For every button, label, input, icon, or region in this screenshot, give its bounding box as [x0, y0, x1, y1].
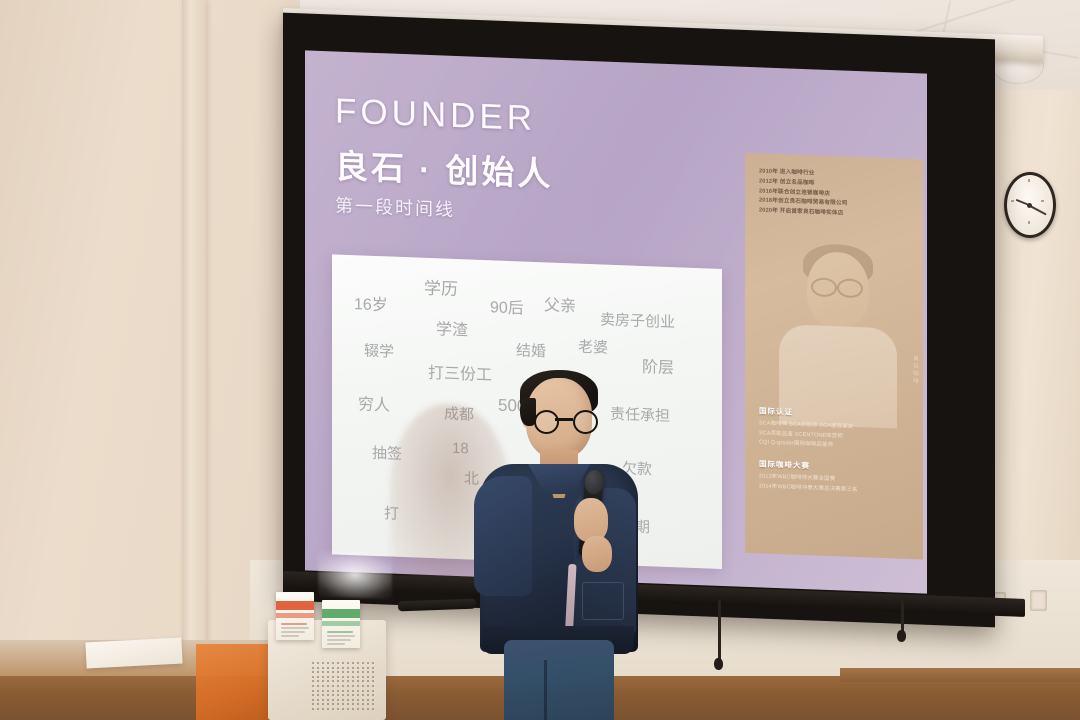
grille-dot: [327, 671, 329, 673]
grille-dot: [312, 680, 314, 682]
grille-dot: [332, 708, 334, 710]
word-cloud-item: 老婆: [578, 340, 608, 356]
grille-dot: [362, 680, 364, 682]
grille-dot: [347, 671, 349, 673]
grille-dot: [317, 662, 319, 664]
grille-dot: [367, 667, 369, 669]
grille-dot: [362, 703, 364, 705]
glasses-lens-left: [534, 410, 559, 434]
grille-dot: [362, 667, 364, 669]
grille-dot: [337, 662, 339, 664]
grille-dot: [322, 703, 324, 705]
lecture-hall-scene: 投影幕布 FOUNDER 良石 · 创始人 第一段时间线 16岁学历90后父亲卖…: [0, 0, 1080, 720]
grille-dot: [342, 671, 344, 673]
grille-dot: [332, 680, 334, 682]
grille-dot: [347, 685, 349, 687]
grille-dot: [367, 699, 369, 701]
screen-cord-knob[interactable]: [897, 630, 906, 642]
grille-dot: [312, 676, 314, 678]
grille-dot: [332, 699, 334, 701]
grille-dot: [352, 680, 354, 682]
grille-dot: [352, 699, 354, 701]
grille-dot: [327, 667, 329, 669]
speaker-jeans-seam: [544, 660, 547, 720]
speaker-jeans: [504, 640, 614, 720]
portrait-glasses-left: [811, 277, 837, 297]
grille-dot: [367, 685, 369, 687]
grille-dot: [342, 694, 344, 696]
grille-dot: [322, 708, 324, 710]
grille-dot: [352, 708, 354, 710]
grille-dot: [317, 703, 319, 705]
grille-dot: [317, 694, 319, 696]
wall-pilaster: [182, 0, 206, 660]
grille-dot: [367, 708, 369, 710]
grille-dot: [357, 703, 359, 705]
grille-dot: [337, 690, 339, 692]
grille-dot: [347, 667, 349, 669]
grille-dot: [372, 703, 374, 705]
grille-dot: [367, 662, 369, 664]
grille-dot: [332, 694, 334, 696]
grille-dot: [362, 699, 364, 701]
grille-dot: [327, 680, 329, 682]
word-cloud-item: 卖房子创业: [600, 312, 675, 330]
grille-dot: [342, 662, 344, 664]
grille-dot: [337, 699, 339, 701]
grille-dot: [342, 690, 344, 692]
grille-dot: [372, 676, 374, 678]
grille-dot: [347, 708, 349, 710]
grille-dot: [322, 667, 324, 669]
slide-title-english: FOUNDER: [335, 91, 536, 139]
word-cloud-item: 父亲: [544, 298, 576, 315]
grille-dot: [312, 662, 314, 664]
front-table: [196, 644, 276, 720]
word-cloud-item: 学渣: [436, 322, 468, 339]
grille-dot: [372, 685, 374, 687]
grille-dot: [327, 708, 329, 710]
competition-list: 2013年WBC咖啡师大赛全国赛2014年WBC咖啡冲煮大赛总决赛第三名: [759, 473, 911, 498]
slide-subtitle: 第一段时间线: [335, 191, 455, 222]
grille-dot: [372, 694, 374, 696]
grille-dot: [357, 680, 359, 682]
grille-dot: [317, 676, 319, 678]
grille-dot: [317, 680, 319, 682]
panel-timeline-list: 2010年 进入咖啡行业2012年 创立名品咖啡2016年联合创立连锁咖啡店20…: [759, 167, 909, 222]
grille-dot: [362, 694, 364, 696]
grille-dot: [352, 676, 354, 678]
panel-vertical-text: 良石咖啡: [911, 355, 919, 385]
grille-dot: [367, 671, 369, 673]
word-cloud-item: 学历: [424, 280, 458, 298]
grille-dot: [327, 690, 329, 692]
grille-dot: [342, 703, 344, 705]
clock-center: [1027, 203, 1032, 208]
grille-dot: [322, 671, 324, 673]
grille-dot: [332, 685, 334, 687]
projector-light-spill: [318, 551, 392, 600]
grille-dot: [367, 694, 369, 696]
grille-dot: [337, 694, 339, 696]
grille-dot: [342, 699, 344, 701]
grille-dot: [322, 685, 324, 687]
grille-dot: [367, 680, 369, 682]
screen-cord-knob[interactable]: [714, 658, 723, 670]
grille-dot: [332, 671, 334, 673]
grille-dot: [337, 667, 339, 669]
grille-dot: [357, 662, 359, 664]
grille-dot: [322, 694, 324, 696]
grille-dot: [317, 671, 319, 673]
grille-dot: [342, 685, 344, 687]
word-cloud-item: 90后: [490, 300, 524, 317]
founder-profile-panel: 2010年 进入咖啡行业2012年 创立名品咖啡2016年联合创立连锁咖啡店20…: [745, 153, 923, 560]
grille-dot: [322, 662, 324, 664]
grille-dot: [372, 662, 374, 664]
grille-dot: [357, 699, 359, 701]
grille-dot: [322, 699, 324, 701]
grille-dot: [317, 699, 319, 701]
grille-dot: [342, 667, 344, 669]
grille-dot: [337, 685, 339, 687]
word-cloud-item: 穷人: [358, 397, 390, 414]
grille-dot: [367, 703, 369, 705]
grille-dot: [372, 699, 374, 701]
portrait-glasses-right: [837, 278, 863, 298]
screen-pull-cord[interactable]: [901, 600, 904, 634]
grille-dot: [357, 667, 359, 669]
microphone-head: [584, 469, 605, 495]
grille-dot: [322, 676, 324, 678]
wall-socket[interactable]: [1030, 590, 1047, 611]
grille-dot: [357, 676, 359, 678]
speaker-glasses-icon: [534, 410, 594, 430]
panel-certifications: 国际认证 SCA咖啡师 SCA烘焙师 SCA感官鉴定SCA萃取品鉴 SCENTO…: [759, 405, 911, 497]
grille-dot: [317, 667, 319, 669]
grille-dot: [362, 662, 364, 664]
grille-dot: [337, 703, 339, 705]
grille-dot: [312, 708, 314, 710]
grille-dot: [347, 680, 349, 682]
speaker-jacket-pocket: [582, 582, 624, 620]
grille-dot: [342, 680, 344, 682]
speaker-person: [470, 368, 650, 720]
grille-dot: [357, 694, 359, 696]
grille-dot: [327, 703, 329, 705]
grille-dot: [327, 662, 329, 664]
grille-dot: [312, 690, 314, 692]
glasses-bridge: [555, 418, 573, 421]
grille-dot: [332, 662, 334, 664]
grille-dot: [357, 685, 359, 687]
grille-dot: [317, 690, 319, 692]
grille-dot: [312, 699, 314, 701]
grille-dot: [362, 708, 364, 710]
grille-dot: [322, 680, 324, 682]
grille-dot: [372, 671, 374, 673]
founder-portrait: [761, 231, 913, 427]
grille-dot: [352, 671, 354, 673]
grille-dot: [372, 690, 374, 692]
speaker-shoulder-left: [474, 476, 532, 596]
grille-dot: [347, 694, 349, 696]
grille-dot: [337, 708, 339, 710]
grille-dot: [312, 667, 314, 669]
grille-dot: [332, 676, 334, 678]
grille-dot: [332, 690, 334, 692]
grille-dot: [367, 676, 369, 678]
grille-dot: [357, 690, 359, 692]
grille-dot: [322, 690, 324, 692]
grille-dot: [327, 676, 329, 678]
speaker-hand-lower: [582, 536, 612, 572]
word-cloud-item: 辍学: [364, 344, 394, 360]
grille-dot: [337, 680, 339, 682]
speaker-hand: [574, 498, 608, 542]
slide-title-chinese: 良石 · 创始人: [335, 139, 553, 195]
grille-dot: [337, 676, 339, 678]
wall-clock: [1004, 172, 1056, 238]
grille-dot: [327, 685, 329, 687]
grille-dot: [352, 685, 354, 687]
grille-dot: [362, 690, 364, 692]
grille-dot: [372, 680, 374, 682]
grille-dot: [337, 671, 339, 673]
grille-dot: [327, 694, 329, 696]
grille-dot: [317, 685, 319, 687]
grille-dot: [332, 667, 334, 669]
speaker-grille: [312, 662, 376, 714]
stage-edge: [840, 668, 1080, 682]
grille-dot: [347, 699, 349, 701]
grille-dot: [372, 667, 374, 669]
grille-dot: [312, 685, 314, 687]
grille-dot: [352, 667, 354, 669]
grille-dot: [317, 708, 319, 710]
grille-dot: [327, 699, 329, 701]
word-cloud-item: 结婚: [516, 343, 546, 359]
grille-dot: [347, 703, 349, 705]
grille-dot: [332, 703, 334, 705]
grille-dot: [362, 671, 364, 673]
placard-green[interactable]: [322, 600, 360, 648]
grille-dot: [357, 671, 359, 673]
grille-dot: [362, 685, 364, 687]
grille-dot: [362, 676, 364, 678]
screen-pull-cord[interactable]: [718, 600, 721, 662]
grille-dot: [312, 703, 314, 705]
grille-dot: [352, 694, 354, 696]
grille-dot: [352, 703, 354, 705]
grille-dot: [312, 694, 314, 696]
grille-dot: [347, 662, 349, 664]
grille-dot: [352, 662, 354, 664]
grille-dot: [342, 676, 344, 678]
grille-dot: [357, 708, 359, 710]
grille-dot: [367, 690, 369, 692]
grille-dot: [347, 690, 349, 692]
word-cloud-item: 16岁: [354, 297, 388, 314]
grille-dot: [352, 690, 354, 692]
grille-dot: [372, 708, 374, 710]
glasses-lens-right: [573, 410, 598, 434]
grille-dot: [342, 708, 344, 710]
grille-dot: [347, 676, 349, 678]
certification-list: SCA咖啡师 SCA烘焙师 SCA感官鉴定SCA萃取品鉴 SCENTONE味觉师…: [759, 419, 911, 454]
grille-dot: [312, 671, 314, 673]
placard-red[interactable]: [276, 592, 314, 640]
paper-sheet: [85, 638, 182, 669]
